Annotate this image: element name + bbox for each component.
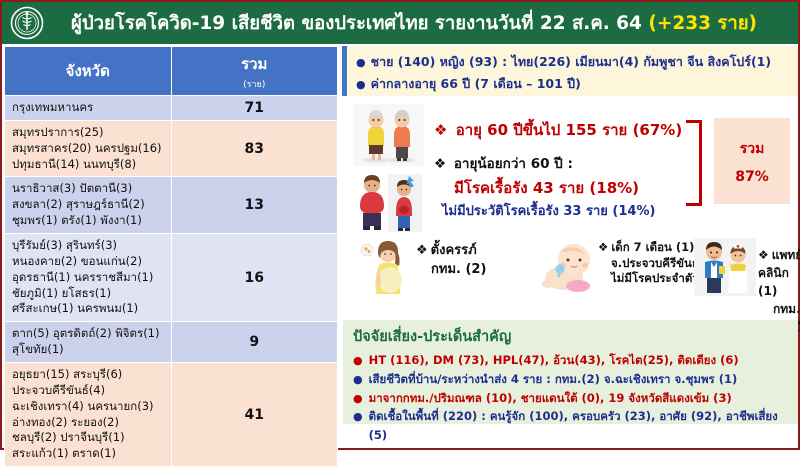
page-title: ผู้ป่วยโรคโควิด-19 เสียชีวิต ของประเทศไท… [48, 9, 798, 38]
combined-total-badge: รวม 87% [714, 118, 790, 204]
grouping-bracket-icon [686, 120, 702, 206]
column-header-total-label: รวม [241, 55, 267, 73]
baby-detail-1: จ.ประจวบคีรีขันธ์ [598, 256, 699, 272]
cell-total: 13 [171, 177, 338, 234]
column-header-province: จังหวัด [5, 47, 172, 96]
doctor-nurse-icon [694, 238, 756, 296]
demographic-summary-panel: ● ชาย (140) หญิง (93) : ไทย(226) เมียนมา… [342, 46, 798, 96]
obese-person-icon [354, 172, 424, 234]
risk-item-travel-history: ● มาจากกทม./ปริมณฑล (10), ชายแดนใต้ (0),… [353, 389, 790, 408]
page-title-highlight: (+233 ราย) [648, 13, 757, 34]
province-death-table: จังหวัด รวม (ราย) กรุงเทพมหานคร 71 สมุทร… [4, 46, 338, 467]
age-under60-text: อายุน้อยกว่า 60 ปี : [454, 156, 573, 172]
risk-item-text: HT (116), DM (73), HPL(47), อ้วน(43), โร… [369, 351, 739, 370]
risk-item-text: เสียชีวิตที่บ้าน/ระหว่างนำส่ง 4 ราย : กท… [369, 370, 738, 389]
cell-total: 83 [171, 120, 338, 177]
summary-bullet-2-text: ค่ากลางอายุ 66 ปี (7 เดือน – 101 ปี) [371, 73, 581, 95]
chronic-disease-line: มีโรคเรื้อรัง 43 ราย (18%) [454, 176, 639, 200]
column-header-total: รวม (ราย) [171, 47, 338, 96]
diamond-bullet-icon: ❖ [416, 243, 428, 258]
risk-item-text: มาจากกทม./ปริมณฑล (10), ชายแดนใต้ (0), 1… [369, 389, 732, 408]
table-row: สมุทรปราการ(25) สมุทรสาคร(20) นครปฐม(16)… [5, 120, 338, 177]
risk-item-local-transmission: ● ติดเชื้อในพื้นที่ (220) : คนรู้จัก (10… [353, 407, 790, 444]
bullet-dot-icon: ● [356, 76, 366, 95]
risk-factors-panel: ปัจจัยเสี่ยง-ประเด็นสำคัญ ● HT (116), DM… [343, 320, 798, 424]
ministry-of-public-health-emblem-icon [6, 2, 48, 44]
cell-provinces: บุรีรัมย์(3) สุรินทร์(3) หนองคาย(2) ขอนแ… [5, 234, 172, 322]
summary-bullet-gender-nationality: ● ชาย (140) หญิง (93) : ไทย(226) เมียนมา… [356, 51, 792, 73]
risk-item-death-location: ● เสียชีวิตที่บ้าน/ระหว่างนำส่ง 4 ราย : … [353, 370, 790, 389]
infographic-page: ผู้ป่วยโรคโควิด-19 เสียชีวิต ของประเทศไท… [0, 0, 800, 450]
cell-total: 71 [171, 96, 338, 121]
table-header-row: จังหวัด รวม (ราย) [5, 47, 338, 96]
cell-provinces: ตาก(5) อุตรดิตถ์(2) พิจิตร(1) สุโขทัย(1) [5, 322, 172, 363]
table-row: อยุธยา(15) สระบุรี(6) ประจวบคีรีขันธ์(4)… [5, 363, 338, 467]
table-row: กรุงเทพมหานคร 71 [5, 96, 338, 121]
combined-total-value: 87% [735, 169, 769, 185]
risk-item-text: ติดเชื้อในพื้นที่ (220) : คนรู้จัก (100)… [369, 407, 790, 444]
diamond-bullet-icon: ❖ [758, 248, 769, 262]
age-breakdown-panel: ❖ อายุ 60 ปีขึ้นไป 155 ราย (67%) ❖ อายุน… [342, 100, 798, 260]
pregnant-detail: กทม. (2) [416, 261, 486, 280]
pregnant-case-text: ❖ตั้งครรภ์ กทม. (2) [416, 242, 486, 280]
no-chronic-disease-line: ไม่มีประวัติโรคเรื้อรัง 33 ราย (14%) [442, 200, 655, 221]
cell-total: 41 [171, 363, 338, 467]
right-column: ● ชาย (140) หญิง (93) : ไทย(226) เมียนมา… [340, 46, 800, 450]
table-row: ตาก(5) อุตรดิตถ์(2) พิจิตร(1) สุโขทัย(1)… [5, 322, 338, 363]
cell-total: 9 [171, 322, 338, 363]
diamond-bullet-icon: ❖ [434, 121, 447, 139]
bullet-dot-icon: ● [353, 408, 363, 426]
cell-provinces: อยุธยา(15) สระบุรี(6) ประจวบคีรีขันธ์(4)… [5, 363, 172, 467]
table-row: บุรีรัมย์(3) สุรินทร์(3) หนองคาย(2) ขอนแ… [5, 234, 338, 322]
pregnant-label: ตั้งครรภ์ [431, 243, 477, 258]
pregnant-woman-icon [358, 238, 412, 296]
baby-icon [540, 240, 604, 296]
baby-detail-2: ไม่มีโรคประจำตัว [598, 271, 699, 287]
page-title-main: ผู้ป่วยโรคโควิด-19 เสียชีวิต ของประเทศไท… [71, 13, 642, 34]
risk-factors-title: ปัจจัยเสี่ยง-ประเด็นสำคัญ [353, 325, 790, 348]
cell-total: 16 [171, 234, 338, 322]
page-header: ผู้ป่วยโรคโควิด-19 เสียชีวิต ของประเทศไท… [2, 2, 798, 44]
cell-provinces: สมุทรปราการ(25) สมุทรสาคร(20) นครปฐม(16)… [5, 120, 172, 177]
summary-bullet-median-age: ● ค่ากลางอายุ 66 ปี (7 เดือน – 101 ปี) [356, 73, 792, 95]
age-under60-line: ❖ อายุน้อยกว่า 60 ปี : [434, 152, 573, 174]
bullet-dot-icon: ● [356, 54, 366, 73]
summary-bullet-1-text: ชาย (140) หญิง (93) : ไทย(226) เมียนมา(4… [371, 51, 771, 73]
baby-label: เด็ก 7 เดือน (1) [611, 240, 694, 254]
bullet-dot-icon: ● [353, 352, 363, 370]
combined-total-label: รวม [740, 138, 765, 160]
cell-provinces: กรุงเทพมหานคร [5, 96, 172, 121]
risk-item-comorbidities: ● HT (116), DM (73), HPL(47), อ้วน(43), … [353, 351, 790, 370]
age-60plus-line: ❖ อายุ 60 ปีขึ้นไป 155 ราย (67%) [434, 118, 682, 142]
cell-provinces: นราธิวาส(3) ปัตตานี(3) สงขลา(2) สุราษฎร์… [5, 177, 172, 234]
bullet-dot-icon: ● [353, 390, 363, 408]
baby-case-text: ❖เด็ก 7 เดือน (1) จ.ประจวบคีรีขันธ์ ไม่ม… [598, 240, 699, 287]
bullet-dot-icon: ● [353, 371, 363, 389]
elderly-couple-icon [354, 104, 424, 166]
diamond-bullet-icon: ❖ [598, 240, 608, 254]
age-60plus-text: อายุ 60 ปีขึ้นไป 155 ราย (67%) [456, 121, 683, 139]
column-header-total-unit: (ราย) [173, 77, 337, 91]
table-row: นราธิวาส(3) ปัตตานี(3) สงขลา(2) สุราษฎร์… [5, 177, 338, 234]
diamond-bullet-icon: ❖ [434, 156, 446, 172]
